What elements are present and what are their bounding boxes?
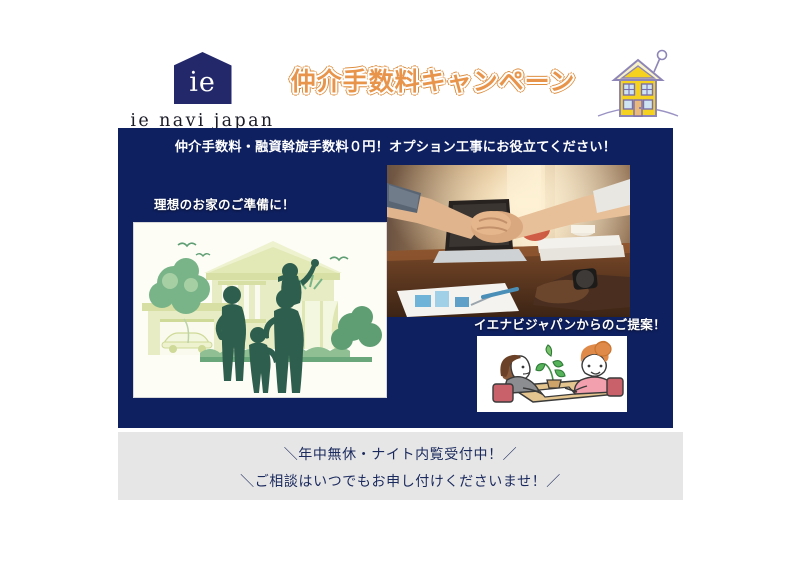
footer-line-1: ＼年中無休・ナイト内覧受付中！／ <box>118 444 683 464</box>
panel-banner-text: 仲介手数料・融資斡旋手数料０円！オプション工事にお役立てください！ <box>118 136 673 155</box>
logo-mark-text: ie <box>189 60 216 96</box>
header: ie ie navi japan イエナビジャパン 仲介手数料キャンペーン <box>0 0 800 128</box>
footer-band: ＼年中無休・ナイト内覧受付中！／ ＼ご相談はいつでもお申し付けくださいませ！／ <box>118 432 683 500</box>
handshake-photo <box>387 165 630 317</box>
caption-left: 理想のお家のご準備に！ <box>154 194 295 213</box>
family-house-illustration <box>133 222 387 398</box>
flyer-page: ie ie navi japan イエナビジャパン 仲介手数料キャンペーン <box>0 0 800 566</box>
footer-line-2: ＼ご相談はいつでもお申し付けくださいませ！／ <box>118 471 683 491</box>
main-navy-panel: 仲介手数料・融資斡旋手数料０円！オプション工事にお役立てください！ 理想のお家の… <box>118 128 673 428</box>
consultation-illustration <box>477 336 627 412</box>
page-title: 仲介手数料キャンペーン <box>288 62 578 98</box>
yellow-house-icon <box>592 42 684 128</box>
logo-house-icon: ie <box>174 52 232 104</box>
